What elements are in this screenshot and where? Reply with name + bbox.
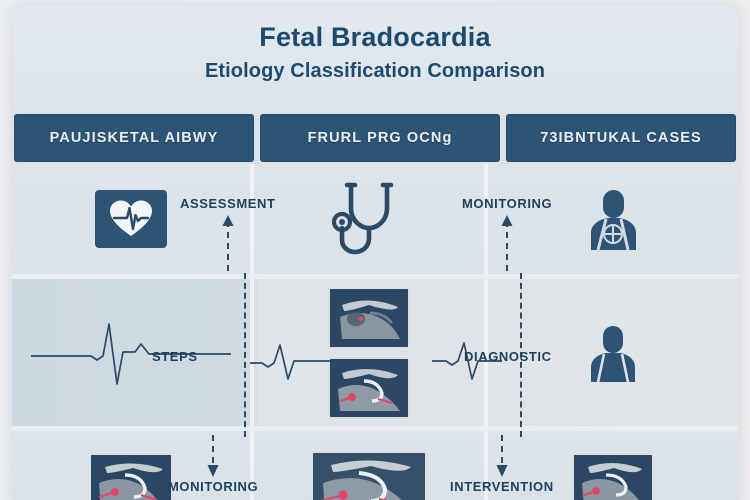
stethoscope-icon [331,180,407,258]
row-assessment: ASSESSMENT MONITORING [12,164,738,279]
column-header-2[interactable]: FRURL PRG OCNg [260,114,500,162]
cell-intervention-right [488,431,738,500]
cell-intervention-middle [250,431,488,500]
column-header-row: PAUJISKETAL AIBWY FRURL PRG OCNg 73IBNTU… [12,114,738,162]
content-rows: ASSESSMENT MONITORING [12,164,738,500]
ultrasound-thumb[interactable] [572,453,654,500]
cell-assessment-right [488,164,738,274]
ultrasound-thumb[interactable] [328,287,410,349]
row-intervention: MONITORING INTERVENTION [12,431,738,500]
ultrasound-thumb[interactable] [89,453,173,500]
cell-assessment-middle [250,164,488,274]
infographic-root: Fetal Bradocardia Etiology Classificatio… [0,0,750,500]
cell-diagnostic-right [488,279,738,426]
ultrasound-thumb-large[interactable] [311,451,427,500]
divider-dashed-right [520,273,522,437]
heart-ecg-icon [95,190,167,248]
page-title: Fetal Bradocardia [259,22,490,53]
infographic-card: Fetal Bradocardia Etiology Classificatio… [12,6,738,500]
ecg-waveform [31,308,231,398]
person-icon [585,322,641,384]
doctor-person-icon [581,186,645,252]
row-diagnostic: STEPS DIAGNOSTIC [12,279,738,431]
divider-dashed-left [244,273,246,437]
column-header-1[interactable]: PAUJISKETAL AIBWY [14,114,254,162]
title-block: Fetal Bradocardia Etiology Classificatio… [12,6,738,110]
page-subtitle: Etiology Classification Comparison [205,60,545,83]
ecg-connector-line [432,341,502,381]
column-header-3[interactable]: 73IBNTUKAL CASES [506,114,736,162]
cell-assessment-left [12,164,250,274]
cell-diagnostic-left [12,279,250,426]
ecg-connector-line [250,341,380,381]
cell-intervention-left [12,431,250,500]
